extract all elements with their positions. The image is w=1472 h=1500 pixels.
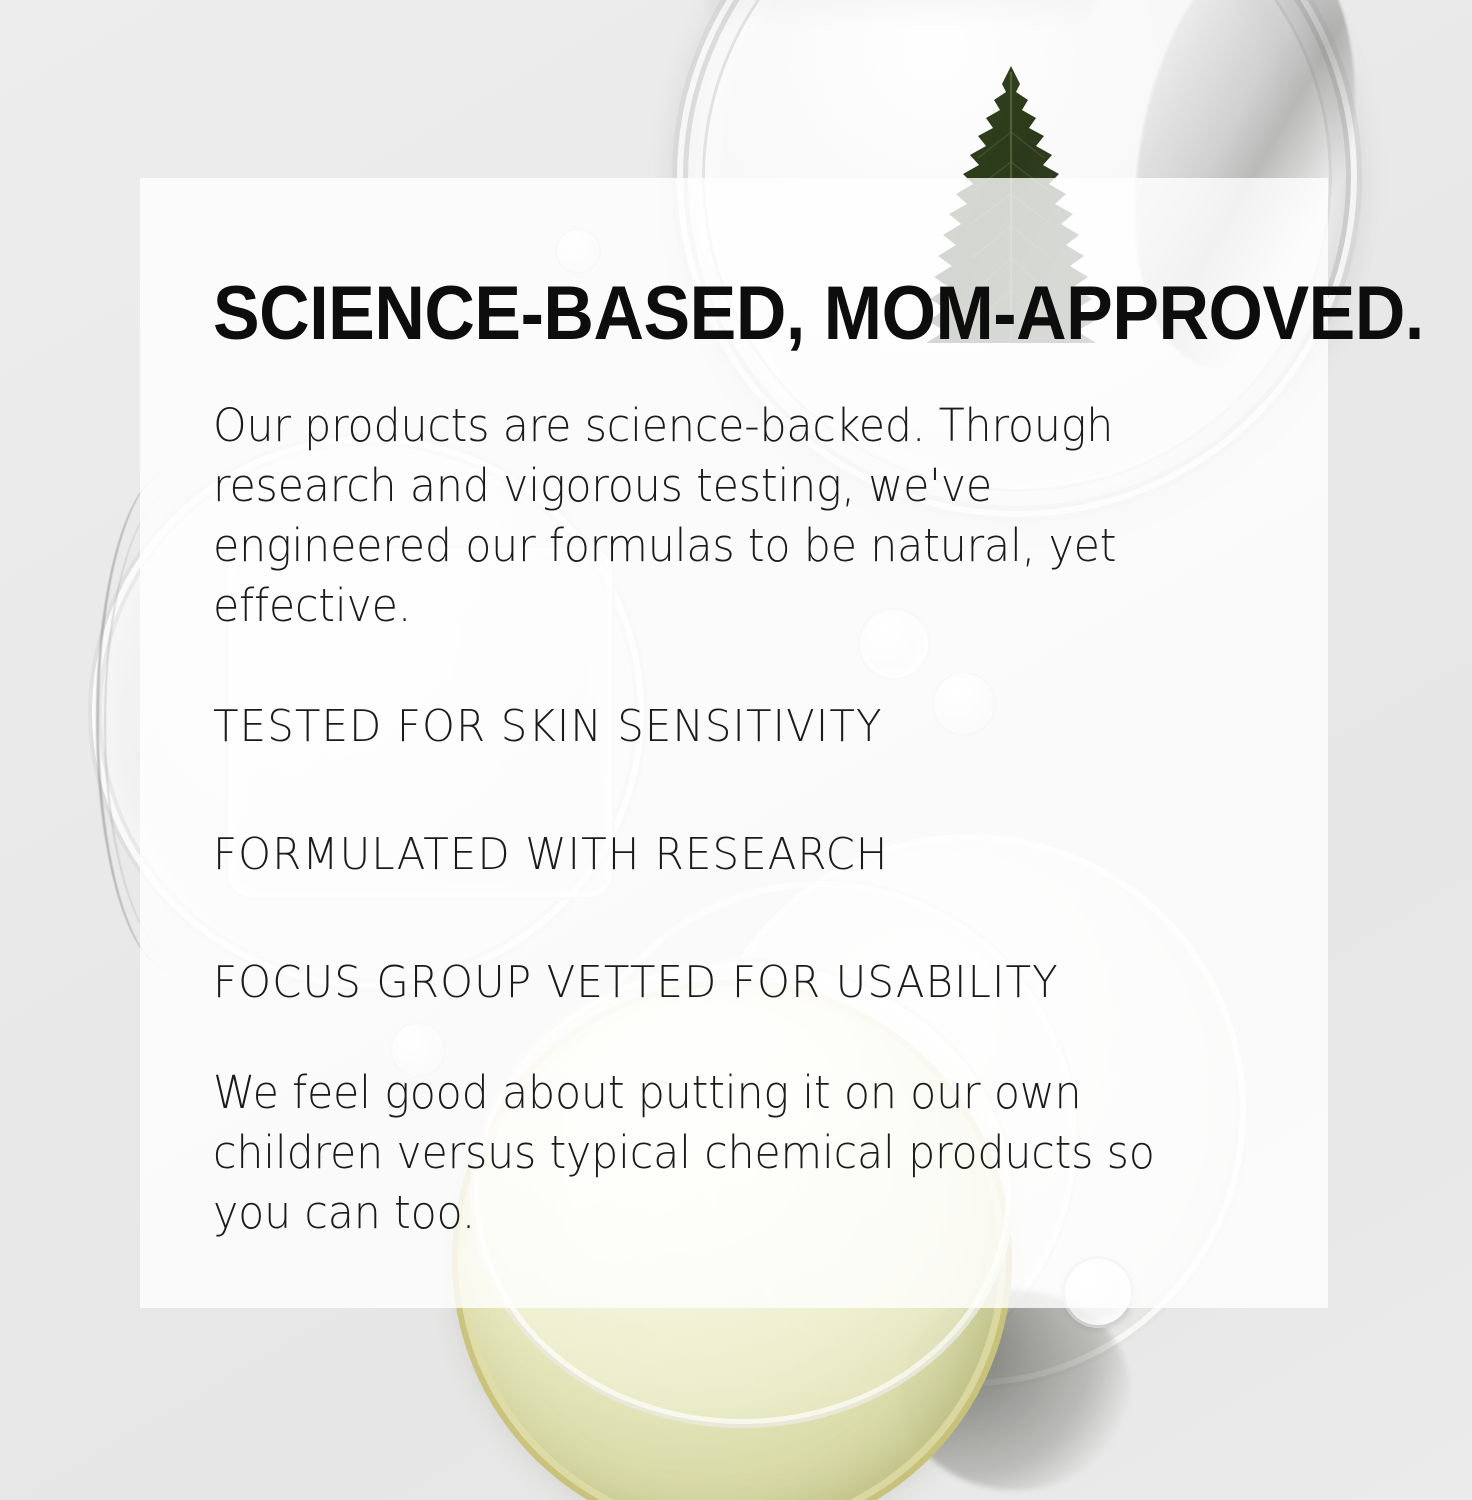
- product-infographic: SCIENCE-BASED, MOM-APPROVED. Our product…: [0, 0, 1472, 1500]
- page-title: SCIENCE-BASED, MOM-APPROVED.: [213, 276, 1239, 352]
- intro-paragraph: Our products are science-backed. Through…: [213, 396, 1230, 635]
- feature-item-tested-for-skin-sensitivity: TESTED FOR SKIN SENSITIVITY: [213, 705, 1272, 749]
- feature-item-focus-group-vetted-for-usability: FOCUS GROUP VETTED FOR USABILITY: [213, 961, 1272, 1005]
- closing-paragraph: We feel good about putting it on our own…: [213, 1063, 1211, 1243]
- olive-dish-shadow: [900, 1290, 1130, 1490]
- content-panel: SCIENCE-BASED, MOM-APPROVED. Our product…: [140, 178, 1328, 1308]
- feature-item-formulated-with-research: FORMULATED WITH RESEARCH: [213, 833, 1272, 877]
- petri-dish-top-highlight: [700, 0, 1100, 100]
